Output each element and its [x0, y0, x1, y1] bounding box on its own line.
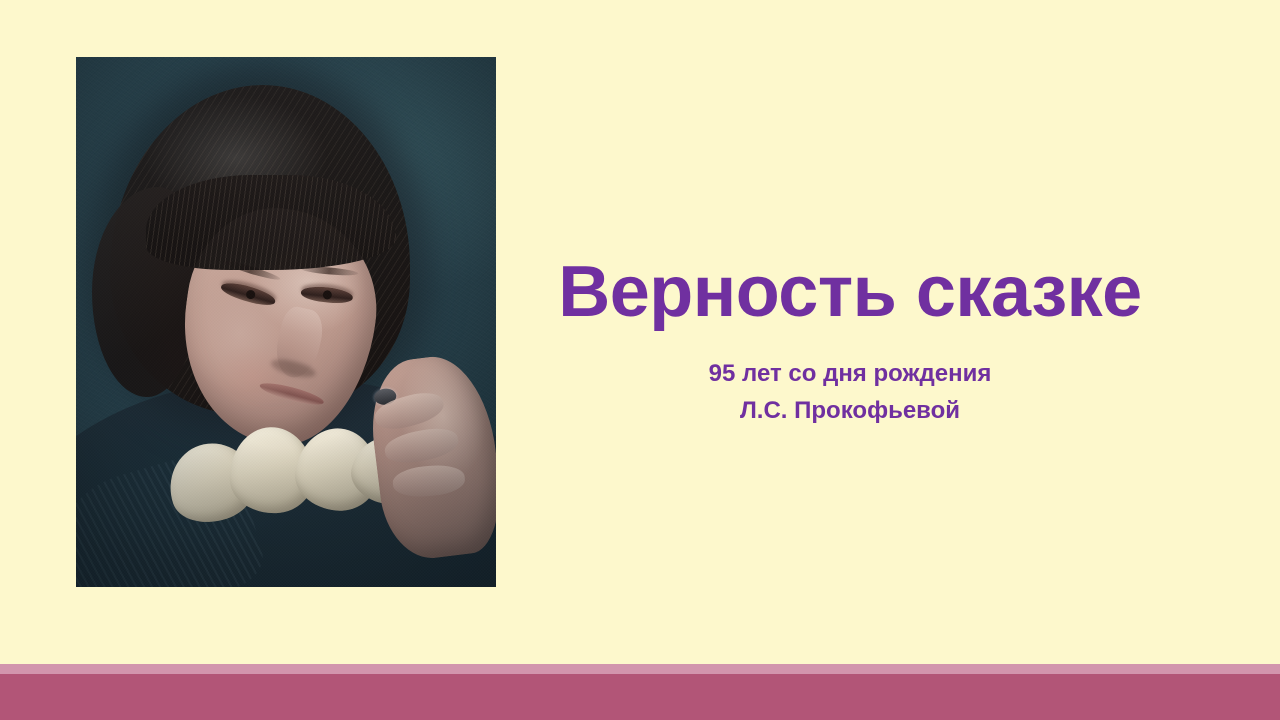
- eye-right: [300, 285, 353, 305]
- pupil-right: [322, 290, 332, 300]
- accent-band-dark: [0, 674, 1280, 720]
- pupil-left: [245, 289, 256, 300]
- finger: [392, 463, 466, 499]
- eye-left: [219, 279, 277, 309]
- accent-band-light: [0, 664, 1280, 674]
- title-block: Верность сказке 95 лет со дня рождения Л…: [540, 255, 1160, 429]
- page-title: Верность сказке: [540, 255, 1160, 331]
- subtitle-line-2: Л.С. Прокофьевой: [540, 392, 1160, 429]
- finger: [382, 424, 460, 468]
- subtitle-line-1: 95 лет со дня рождения: [540, 355, 1160, 392]
- hair-fringe-shape: [146, 175, 396, 270]
- portrait-image: [76, 57, 496, 587]
- page-subtitle: 95 лет со дня рождения Л.С. Прокофьевой: [540, 355, 1160, 429]
- slide-canvas: Верность сказке 95 лет со дня рождения Л…: [0, 0, 1280, 720]
- portrait-photo: [76, 57, 496, 587]
